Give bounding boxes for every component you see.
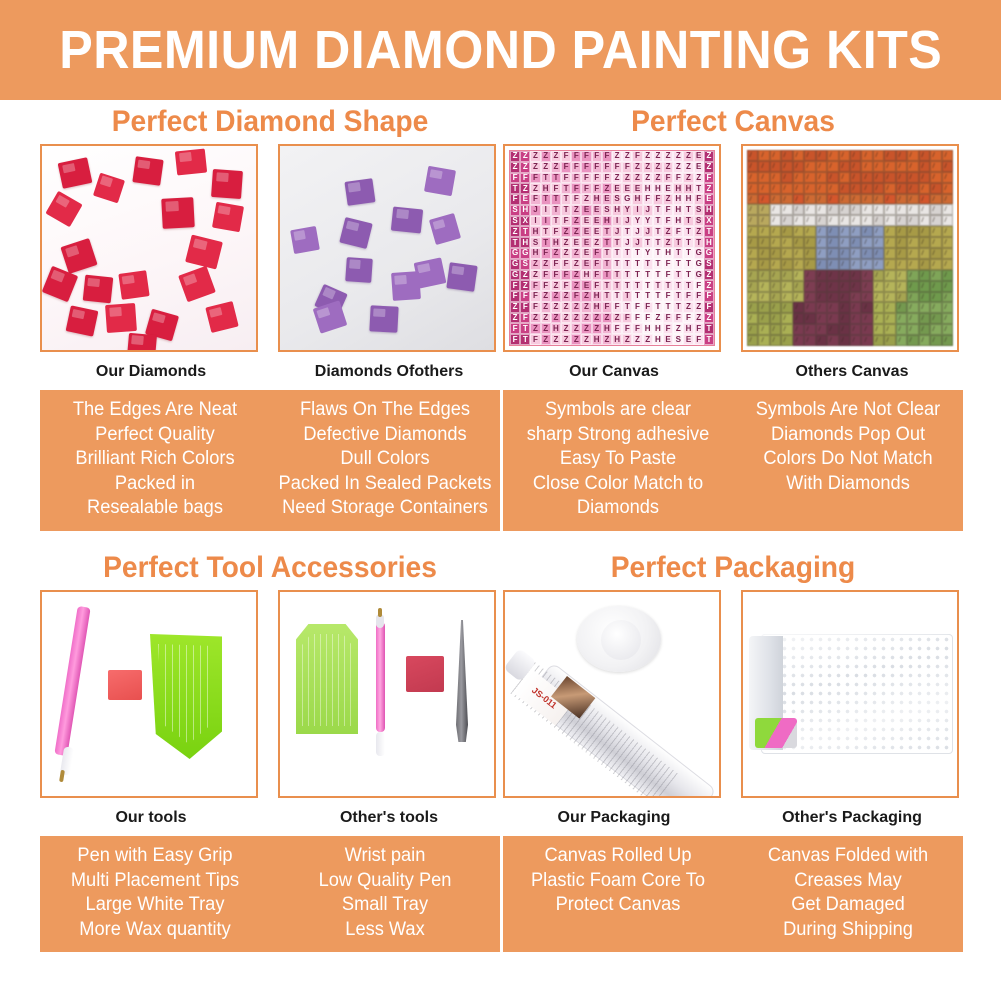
canvas-pixel-cell (896, 150, 907, 161)
canvas-symbol-cell: Z (602, 313, 612, 324)
canvas-symbol-cell: Z (581, 334, 591, 345)
canvas-symbol-cell: F (663, 313, 673, 324)
canvas-pixel-cell (942, 270, 953, 281)
canvas-pixel-cell (839, 313, 850, 324)
textbox-line: Canvas Folded with (738, 844, 959, 869)
canvas-pixel-cell (873, 302, 884, 313)
canvas-pixel-cell (781, 150, 792, 161)
canvas-pixel-cell (861, 226, 872, 237)
canvas-pixel-cell (747, 194, 758, 205)
canvas-symbol-cell: E (592, 205, 602, 216)
canvas-symbol-cell: Z (541, 334, 551, 345)
canvas-pixel-cell (804, 281, 815, 292)
canvas-symbol-cell: T (673, 248, 683, 259)
canvas-symbol-cell: H (643, 183, 653, 194)
image-caption: Other's Packaging (741, 807, 963, 829)
canvas-pixel-cell (816, 270, 827, 281)
section-title: Perfect Tool Accessories (54, 546, 486, 590)
canvas-symbol-cell: G (694, 248, 704, 259)
canvas-symbol-cell: F (592, 280, 602, 291)
canvas-symbol-cell: F (592, 151, 602, 162)
canvas-pixel-cell (919, 324, 930, 335)
canvas-pixel-cell (747, 150, 758, 161)
canvas-symbol-cell: H (592, 291, 602, 302)
canvas-symbol-cell: Z (561, 323, 571, 334)
textbox-line: Flaws On The Edges (275, 398, 496, 423)
textbox-line: The Edges Are Neat (45, 398, 266, 423)
canvas-symbol-cell: H (541, 183, 551, 194)
canvas-pixel-cell (770, 324, 781, 335)
canvas-pixel-cell (850, 259, 861, 270)
canvas-pixel-cell (919, 215, 930, 226)
canvas-symbol-cell: F (602, 302, 612, 313)
canvas-symbol-cell: E (581, 226, 591, 237)
mailer-contents (755, 718, 797, 748)
canvas-pixel-cell (919, 270, 930, 281)
textbox-line: Diamonds Pop Out (738, 423, 959, 448)
canvas-symbol-cell: Z (530, 151, 540, 162)
canvas-pixel-cell (919, 150, 930, 161)
canvas-pixel-cell (907, 335, 918, 346)
canvas-symbol-cell: T (643, 259, 653, 270)
canvas-pixel-cell (930, 237, 941, 248)
canvas-symbol-cell: T (704, 334, 714, 345)
canvas-pixel-cell (816, 204, 827, 215)
canvas-pixel-cell (758, 248, 769, 259)
canvas-pixel-cell (770, 302, 781, 313)
comparison-pair: Our tools Other's tools (40, 590, 500, 829)
canvas-symbol-cell: F (612, 162, 622, 173)
our-diamonds-image[interactable] (40, 144, 258, 352)
canvas-pixel-cell (758, 335, 769, 346)
canvas-pixel-cell (873, 281, 884, 292)
canvas-symbol-cell: H (632, 194, 642, 205)
canvas-symbol-cell: Z (520, 280, 530, 291)
canvas-symbol-cell: T (653, 259, 663, 270)
our-packaging-image[interactable]: JS-011 (503, 590, 721, 798)
other-diamonds-image[interactable] (278, 144, 496, 352)
canvas-pixel-cell (942, 161, 953, 172)
canvas-pixel-cell (907, 324, 918, 335)
canvas-symbol-cell: T (653, 248, 663, 259)
canvas-pixel-cell (839, 150, 850, 161)
canvas-pixel-cell (758, 237, 769, 248)
canvas-pixel-cell (781, 292, 792, 303)
canvas-pixel-cell (861, 313, 872, 324)
canvas-symbol-cell: T (561, 183, 571, 194)
canvas-pixel-cell (850, 215, 861, 226)
canvas-pixel-cell (919, 259, 930, 270)
canvas-pixel-cell (896, 335, 907, 346)
canvas-symbol-cell: Z (704, 313, 714, 324)
canvas-pixel-cell (839, 204, 850, 215)
image-caption: Our Packaging (503, 807, 725, 829)
canvas-pixel-cell (850, 194, 861, 205)
canvas-pixel-cell (758, 194, 769, 205)
canvas-pixel-cell (873, 259, 884, 270)
canvas-pixel-cell (804, 302, 815, 313)
canvas-symbol-cell: Z (551, 302, 561, 313)
canvas-symbol-cell: E (663, 334, 673, 345)
pink-pen-icon (376, 622, 385, 732)
canvas-symbol-cell: H (520, 205, 530, 216)
canvas-symbol-cell: T (602, 291, 612, 302)
canvas-symbol-cell: F (520, 291, 530, 302)
canvas-pixel-cell (816, 259, 827, 270)
canvas-pixel-cell (816, 292, 827, 303)
textbox-line: Need Storage Containers (275, 496, 496, 521)
canvas-pixel-cell (793, 172, 804, 183)
canvas-symbol-cell: F (704, 173, 714, 184)
canvas-symbol-cell: I (632, 205, 642, 216)
canvas-symbol-cell: Z (612, 313, 622, 324)
canvas-symbol-cell: F (551, 270, 561, 281)
canvas-symbol-cell: F (663, 291, 673, 302)
comparison-pair: JS-011 Our Packaging Other's Pa (503, 590, 963, 829)
canvas-pixel-cell (896, 183, 907, 194)
canvas-symbol-cell: H (653, 334, 663, 345)
canvas-symbol-cell: Z (571, 302, 581, 313)
canvas-pixel-cell (919, 172, 930, 183)
canvas-symbol-cell: G (694, 259, 704, 270)
canvas-symbol-cell: T (602, 226, 612, 237)
canvas-symbol-cell: Z (694, 313, 704, 324)
canvas-pixel-cell (896, 204, 907, 215)
canvas-pixel-cell (873, 226, 884, 237)
canvas-pixel-cell (804, 292, 815, 303)
canvas-symbol-cell: H (612, 334, 622, 345)
canvas-pixel-cell (839, 226, 850, 237)
canvas-symbol-cell: T (612, 237, 622, 248)
canvas-symbol-cell: T (632, 259, 642, 270)
canvas-pixel-cell (896, 292, 907, 303)
canvas-symbol-cell: Z (683, 162, 693, 173)
canvas-pixel-cell (907, 150, 918, 161)
compare-cell-ours: Our tools (40, 590, 262, 829)
canvas-pixel-cell (758, 161, 769, 172)
canvas-symbol-cell: T (622, 280, 632, 291)
canvas-symbol-cell: F (663, 216, 673, 227)
canvas-symbol-cell: Z (622, 334, 632, 345)
canvas-pixel-cell (907, 270, 918, 281)
canvas-pixel-cell (930, 183, 941, 194)
canvas-symbol-cell: Z (581, 313, 591, 324)
canvas-symbol-cell: T (653, 237, 663, 248)
other-packaging-image[interactable] (741, 590, 959, 798)
section-title: Perfect Diamond Shape (54, 100, 486, 144)
canvas-symbol-cell: Z (571, 248, 581, 259)
compare-cell-theirs: Others Canvas (741, 144, 963, 383)
canvas-symbol-cell: Z (530, 162, 540, 173)
symbol-canvas-art: ZZZZZFFFFFZZFZZZZZEZZZZZZFFFFFFFZZZZZZEZ… (509, 150, 715, 346)
canvas-pixel-cell (942, 150, 953, 161)
canvas-symbol-cell: Z (653, 313, 663, 324)
canvas-pixel-cell (884, 237, 895, 248)
canvas-pixel-cell (907, 215, 918, 226)
canvas-pixel-cell (884, 335, 895, 346)
canvas-symbol-cell: Z (551, 162, 561, 173)
canvas-symbol-cell: T (541, 173, 551, 184)
canvas-symbol-cell: F (622, 162, 632, 173)
canvas-symbol-cell: E (663, 183, 673, 194)
others-canvas-image[interactable] (741, 144, 959, 352)
canvas-pixel-cell (919, 302, 930, 313)
canvas-pixel-cell (827, 215, 838, 226)
canvas-symbol-cell: Z (673, 323, 683, 334)
canvas-symbol-cell: T (622, 291, 632, 302)
canvas-pixel-cell (839, 183, 850, 194)
canvas-symbol-cell: F (592, 173, 602, 184)
wax-square-icon (406, 656, 444, 692)
canvas-symbol-cell: F (510, 291, 520, 302)
canvas-symbol-cell: Z (704, 162, 714, 173)
canvas-pixel-cell (816, 226, 827, 237)
canvas-symbol-cell: E (694, 151, 704, 162)
canvas-symbol-cell: F (663, 205, 673, 216)
canvas-symbol-cell: T (643, 291, 653, 302)
canvas-symbol-cell: F (663, 259, 673, 270)
canvas-pixel-cell (839, 194, 850, 205)
canvas-pixel-cell (839, 270, 850, 281)
canvas-pixel-cell (747, 292, 758, 303)
canvas-pixel-cell (816, 172, 827, 183)
canvas-symbol-cell: Z (602, 334, 612, 345)
canvas-pixel-cell (884, 172, 895, 183)
canvas-symbol-cell: Z (561, 237, 571, 248)
canvas-pixel-cell (770, 248, 781, 259)
canvas-symbol-cell: G (622, 194, 632, 205)
canvas-symbol-cell: T (663, 280, 673, 291)
canvas-symbol-cell: T (653, 280, 663, 291)
canvas-pixel-cell (781, 161, 792, 172)
canvas-symbol-cell: F (510, 280, 520, 291)
canvas-symbol-cell: Z (551, 334, 561, 345)
canvas-symbol-cell: Z (510, 302, 520, 313)
canvas-symbol-cell: Z (510, 313, 520, 324)
canvas-symbol-cell: Z (612, 173, 622, 184)
canvas-pixel-cell (839, 161, 850, 172)
canvas-pixel-cell (850, 183, 861, 194)
canvas-pixel-cell (747, 302, 758, 313)
canvas-symbol-cell: H (643, 323, 653, 334)
canvas-pixel-cell (930, 215, 941, 226)
canvas-pixel-cell (804, 313, 815, 324)
canvas-pixel-cell (816, 335, 827, 346)
section-title: Perfect Canvas (517, 100, 949, 144)
canvas-pixel-cell (942, 248, 953, 259)
canvas-pixel-cell (758, 204, 769, 215)
our-canvas-image[interactable]: ZZZZZFFFFFZZFZZZZZEZZZZZZFFFFFFFZZZZZZEZ… (503, 144, 721, 352)
canvas-symbol-cell: F (551, 259, 561, 270)
canvas-pixel-cell (747, 161, 758, 172)
canvas-symbol-cell: Z (643, 334, 653, 345)
canvas-pixel-cell (861, 281, 872, 292)
canvas-pixel-cell (816, 302, 827, 313)
canvas-symbol-cell: Z (602, 183, 612, 194)
canvas-pixel-cell (930, 302, 941, 313)
canvas-symbol-cell: Z (571, 205, 581, 216)
canvas-symbol-cell: F (551, 226, 561, 237)
canvas-pixel-cell (884, 270, 895, 281)
canvas-pixel-cell (827, 292, 838, 303)
canvas-pixel-cell (930, 204, 941, 215)
canvas-pixel-cell (781, 194, 792, 205)
canvas-pixel-cell (793, 335, 804, 346)
canvas-symbol-cell: H (520, 237, 530, 248)
canvas-symbol-cell: Z (571, 323, 581, 334)
canvas-pixel-cell (884, 281, 895, 292)
canvas-symbol-cell: T (694, 183, 704, 194)
canvas-pixel-cell (919, 183, 930, 194)
canvas-pixel-cell (827, 194, 838, 205)
canvas-symbol-cell: F (663, 323, 673, 334)
canvas-pixel-cell (747, 281, 758, 292)
canvas-pixel-cell (816, 281, 827, 292)
canvas-pixel-cell (827, 172, 838, 183)
canvas-pixel-cell (873, 248, 884, 259)
compare-cell-ours: Our Diamonds (40, 144, 262, 383)
canvas-pixel-cell (930, 172, 941, 183)
canvas-symbol-cell: E (571, 237, 581, 248)
canvas-pixel-cell (827, 324, 838, 335)
canvas-pixel-cell (896, 226, 907, 237)
canvas-symbol-cell: F (602, 151, 612, 162)
canvas-pixel-cell (781, 226, 792, 237)
other-tools-image[interactable] (278, 590, 496, 798)
canvas-pixel-cell (930, 281, 941, 292)
canvas-symbol-cell: T (653, 226, 663, 237)
canvas-pixel-cell (907, 172, 918, 183)
canvas-symbol-cell: F (561, 162, 571, 173)
canvas-pixel-cell (804, 150, 815, 161)
canvas-pixel-cell (907, 183, 918, 194)
canvas-symbol-cell: F (520, 302, 530, 313)
canvas-symbol-cell: Z (694, 302, 704, 313)
canvas-pixel-cell (850, 248, 861, 259)
image-caption: Our tools (40, 807, 262, 829)
canvas-symbol-cell: F (571, 291, 581, 302)
canvas-pixel-cell (930, 259, 941, 270)
canvas-symbol-cell: H (704, 237, 714, 248)
our-tools-image[interactable] (40, 590, 258, 798)
canvas-symbol-cell: F (561, 216, 571, 227)
canvas-symbol-cell: S (530, 237, 540, 248)
canvas-pixel-cell (758, 270, 769, 281)
canvas-symbol-cell: I (541, 216, 551, 227)
canvas-pixel-cell (884, 204, 895, 215)
canvas-symbol-cell: T (673, 302, 683, 313)
textbox-theirs: Symbols Are Not ClearDiamonds Pop OutCol… (738, 398, 959, 521)
canvas-symbol-cell: F (592, 162, 602, 173)
canvas-pixel-cell (919, 194, 930, 205)
canvas-pixel-cell (770, 172, 781, 183)
canvas-symbol-cell: T (683, 280, 693, 291)
canvas-pixel-cell (827, 183, 838, 194)
textbox-line: Small Tray (275, 893, 496, 918)
canvas-symbol-cell: Z (581, 323, 591, 334)
canvas-pixel-cell (816, 183, 827, 194)
canvas-symbol-cell: H (683, 194, 693, 205)
canvas-symbol-cell: H (673, 216, 683, 227)
canvas-pixel-cell (896, 215, 907, 226)
canvas-pixel-cell (747, 335, 758, 346)
canvas-pixel-cell (747, 248, 758, 259)
canvas-pixel-cell (850, 292, 861, 303)
canvas-pixel-cell (907, 237, 918, 248)
canvas-symbol-cell: E (632, 183, 642, 194)
canvas-symbol-cell: F (592, 259, 602, 270)
canvas-pixel-cell (827, 313, 838, 324)
canvas-symbol-cell: Z (520, 183, 530, 194)
canvas-symbol-cell: H (683, 183, 693, 194)
canvas-symbol-cell: Z (673, 151, 683, 162)
canvas-symbol-cell: H (592, 194, 602, 205)
textbox-ours: Symbols are clearsharp Strong adhesiveEa… (508, 398, 729, 521)
canvas-symbol-cell: T (622, 248, 632, 259)
canvas-pixel-cell (861, 302, 872, 313)
canvas-symbol-cell: F (673, 226, 683, 237)
canvas-pixel-cell (896, 281, 907, 292)
canvas-pixel-cell (781, 204, 792, 215)
canvas-symbol-cell: T (612, 248, 622, 259)
canvas-symbol-cell: Z (592, 323, 602, 334)
canvas-pixel-cell (758, 313, 769, 324)
canvas-symbol-cell: H (653, 323, 663, 334)
canvas-symbol-cell: E (520, 194, 530, 205)
textbox-theirs: Canvas Folded withCreases MayGet Damaged… (738, 844, 959, 942)
infographic-page: PREMIUM DIAMOND PAINTING KITS Perfect Di… (0, 0, 1001, 1001)
canvas-symbol-cell: H (530, 226, 540, 237)
canvas-pixel-cell (793, 226, 804, 237)
canvas-symbol-cell: Z (571, 313, 581, 324)
canvas-symbol-cell: T (653, 291, 663, 302)
canvas-pixel-cell (816, 161, 827, 172)
textbox-line: Perfect Quality (45, 423, 266, 448)
canvas-symbol-cell: T (683, 248, 693, 259)
canvas-pixel-cell (827, 161, 838, 172)
canvas-pixel-cell (930, 226, 941, 237)
section-packaging: Perfect Packaging JS-011 Our Packaging (503, 546, 963, 952)
canvas-symbol-cell: Z (571, 226, 581, 237)
canvas-symbol-cell: Z (541, 302, 551, 313)
canvas-symbol-cell: Z (530, 183, 540, 194)
page-title: PREMIUM DIAMOND PAINTING KITS (59, 19, 942, 81)
canvas-pixel-cell (839, 292, 850, 303)
canvas-symbol-cell: F (592, 183, 602, 194)
canvas-symbol-cell: Z (704, 270, 714, 281)
canvas-symbol-cell: F (673, 173, 683, 184)
comparison-textbox: Symbols are clearsharp Strong adhesiveEa… (503, 390, 963, 531)
canvas-symbol-cell: T (541, 194, 551, 205)
canvas-symbol-cell: T (551, 194, 561, 205)
textbox-line: Symbols Are Not Clear (738, 398, 959, 423)
canvas-pixel-cell (770, 215, 781, 226)
canvas-symbol-cell: Z (663, 226, 673, 237)
textbox-line: Diamonds (508, 496, 729, 521)
canvas-symbol-cell: Z (581, 291, 591, 302)
canvas-symbol-cell: Z (653, 162, 663, 173)
canvas-pixel-cell (884, 292, 895, 303)
canvas-pixel-cell (896, 161, 907, 172)
tube-packaging-art: JS-011 (505, 592, 719, 796)
canvas-symbol-cell: F (561, 270, 571, 281)
canvas-pixel-cell (861, 204, 872, 215)
canvas-pixel-cell (793, 161, 804, 172)
canvas-pixel-cell (770, 292, 781, 303)
canvas-symbol-cell: I (541, 205, 551, 216)
compare-cell-ours: JS-011 Our Packaging (503, 590, 725, 829)
canvas-pixel-cell (839, 302, 850, 313)
